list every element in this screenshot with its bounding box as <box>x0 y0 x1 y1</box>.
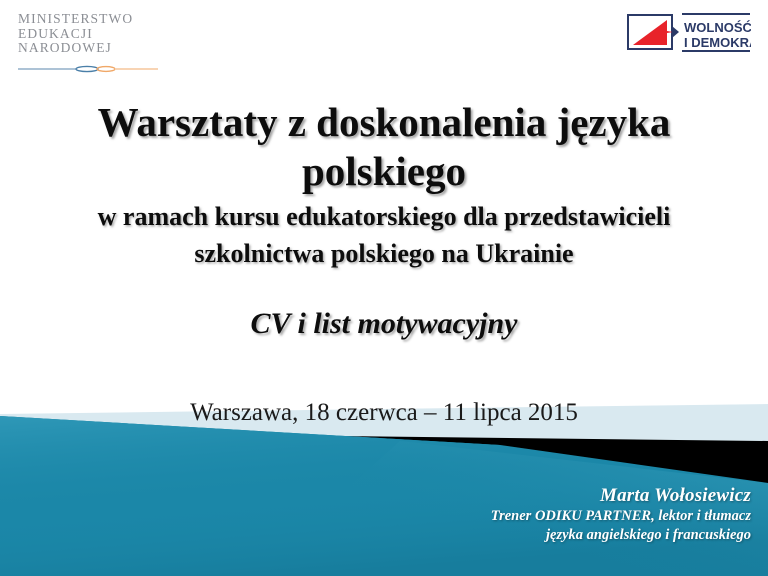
slide-date-location: Warszawa, 18 czerwca – 11 lipca 2015 <box>42 398 726 428</box>
wid-logo-line-2: I DEMOKRACJA <box>684 35 751 50</box>
author-role-line-1: Trener ODIKU PARTNER, lektor i tłumacz <box>331 507 751 526</box>
author-role-line-2: języka angielskiego i francuskiego <box>331 526 751 545</box>
wid-logo-icon: WOLNOŚĆ I DEMOKRACJA <box>627 9 751 57</box>
slide-topic: CV i list motywacyjny <box>42 305 726 343</box>
slide-subtitle-line-1: w ramach kursu edukatorskiego dla przeds… <box>42 200 726 233</box>
presentation-slide: MINISTERSTWO EDUKACJI NARODOWEJ WOLNOŚĆ … <box>0 0 768 576</box>
ministry-of-national-education-logo: MINISTERSTWO EDUKACJI NARODOWEJ <box>18 12 168 71</box>
men-logo-line-1: MINISTERSTWO <box>18 12 168 27</box>
men-logo-line-2: EDUKACJI <box>18 27 168 42</box>
slide-subtitle-line-2: szkolnictwa polskiego na Ukrainie <box>42 237 726 270</box>
men-logo-rule-icon <box>18 64 158 74</box>
men-logo-line-3: NARODOWEJ <box>18 41 168 56</box>
black-wedge <box>0 432 768 484</box>
wid-logo-line-1: WOLNOŚĆ <box>684 20 751 35</box>
wolnosc-i-demokracja-logo: WOLNOŚĆ I DEMOKRACJA <box>627 9 751 57</box>
author-block: Marta Wołosiewicz Trener ODIKU PARTNER, … <box>331 484 751 545</box>
slide-title-block: Warsztaty z doskonalenia języka polskieg… <box>42 98 726 270</box>
author-name: Marta Wołosiewicz <box>331 484 751 507</box>
men-logo-rule <box>18 61 158 71</box>
slide-title: Warsztaty z doskonalenia języka polskieg… <box>42 98 726 196</box>
